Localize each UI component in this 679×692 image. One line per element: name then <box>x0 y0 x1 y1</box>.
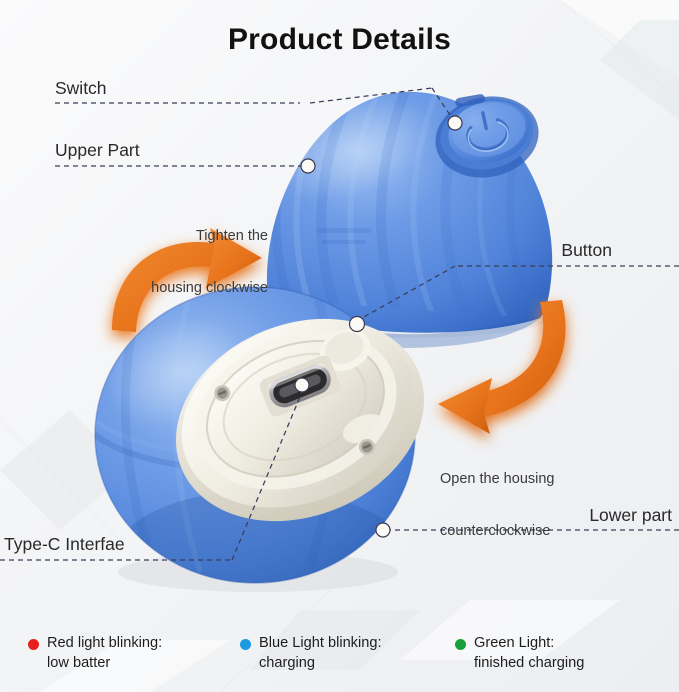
legend-text-green: Green Light:finished charging <box>474 634 584 673</box>
note-open-line2: counterclockwise <box>440 523 620 540</box>
legend-item-red: Red light blinking:low batter <box>28 634 162 673</box>
callout-dot-button <box>350 317 365 332</box>
note-tighten-line2: housing clockwise <box>108 280 268 297</box>
callout-label-button: Button <box>561 240 612 261</box>
callout-leader-button <box>362 266 455 318</box>
callout-dot-type-c <box>295 378 309 392</box>
callout-dot-lower-part <box>376 523 390 537</box>
legend-text-red: Red light blinking:low batter <box>47 634 162 673</box>
green-status-dot <box>455 639 466 650</box>
red-status-dot <box>28 639 39 650</box>
callout-label-switch: Switch <box>55 78 107 99</box>
product-details-infographic: Product Details Switch Upper Part Button… <box>0 0 679 692</box>
page-title: Product Details <box>0 22 679 57</box>
legend-item-blue: Blue Light blinking:charging <box>240 634 382 673</box>
callout-label-type-c: Type-C Interfae <box>4 534 125 555</box>
legend-item-green: Green Light:finished charging <box>455 634 584 673</box>
status-legend: Red light blinking:low batter Blue Light… <box>0 634 679 684</box>
callout-leader-switch <box>310 88 432 103</box>
callout-label-upper-part: Upper Part <box>55 140 140 161</box>
legend-text-blue: Blue Light blinking:charging <box>259 634 382 673</box>
callout-dot-switch <box>448 116 462 130</box>
callout-dot-upper-part <box>301 159 315 173</box>
note-tighten-line1: Tighten the <box>108 228 268 245</box>
blue-status-dot <box>240 639 251 650</box>
callout-lines <box>0 0 679 692</box>
callout-leader-type-c <box>232 392 302 560</box>
note-open-line1: Open the housing <box>440 471 620 488</box>
